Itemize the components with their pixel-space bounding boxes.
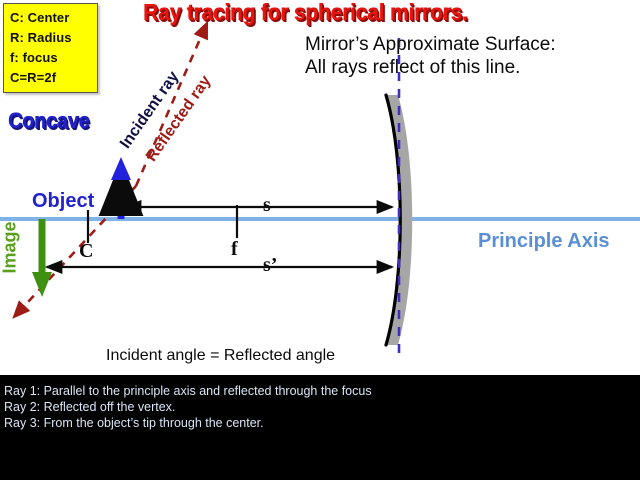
image-arrow-head [32, 272, 52, 297]
principle-axis-label: Principle Axis [478, 230, 610, 253]
ray-rule-3: Ray 3: From the object’s tip through the… [4, 415, 640, 431]
mirror-note-line1: Mirror’s Approximate Surface: [305, 34, 556, 56]
mirror-note-line2: All rays reflect of this line. [305, 57, 520, 79]
object-arrow-head [111, 157, 131, 180]
focus-label: f [231, 238, 238, 261]
object-label: Object [32, 190, 94, 213]
ray-rule-2: Ray 2: Reflected off the vertex. [4, 399, 640, 415]
image-distance-label: s’ [263, 254, 277, 277]
image-label: Image [0, 221, 21, 273]
mirror-reflective-curve [386, 95, 400, 345]
legend-line-center: C: Center [10, 8, 97, 28]
mirror-type-label: Concave [8, 108, 89, 134]
diagram-canvas: C: Center R: Radius f: focus C=R=2f Ray … [0, 0, 640, 480]
mirror-surface-band [386, 95, 412, 345]
legend-line-focus: f: focus [10, 48, 97, 68]
legend-line-formula: C=R=2f [10, 68, 97, 88]
page-title: Ray tracing for spherical mirrors. [143, 0, 468, 26]
ray-rules-panel: Ray 1: Parallel to the principle axis an… [0, 375, 640, 480]
center-label: C [79, 240, 93, 263]
ray-rule-1: Ray 1: Parallel to the principle axis an… [4, 383, 640, 399]
definitions-legend-box: C: Center R: Radius f: focus C=R=2f [3, 3, 98, 93]
object-distance-label: s [263, 194, 271, 217]
angle-equality-note: Incident angle = Reflected angle [106, 347, 335, 365]
legend-line-radius: R: Radius [10, 28, 97, 48]
